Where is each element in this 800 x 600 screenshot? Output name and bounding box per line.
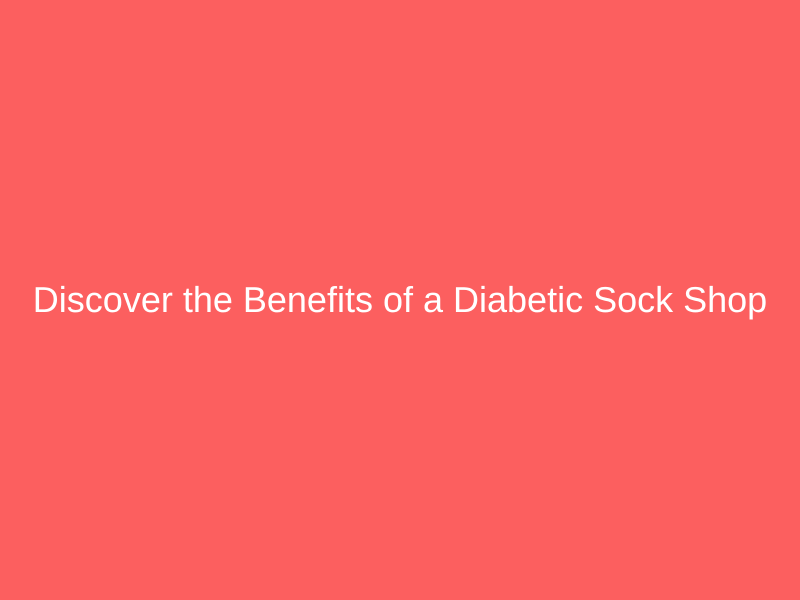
banner-content: Discover the Benefits of a Diabetic Sock… <box>0 278 800 321</box>
banner-card: Discover the Benefits of a Diabetic Sock… <box>0 0 800 600</box>
page-title: Discover the Benefits of a Diabetic Sock… <box>24 278 776 321</box>
